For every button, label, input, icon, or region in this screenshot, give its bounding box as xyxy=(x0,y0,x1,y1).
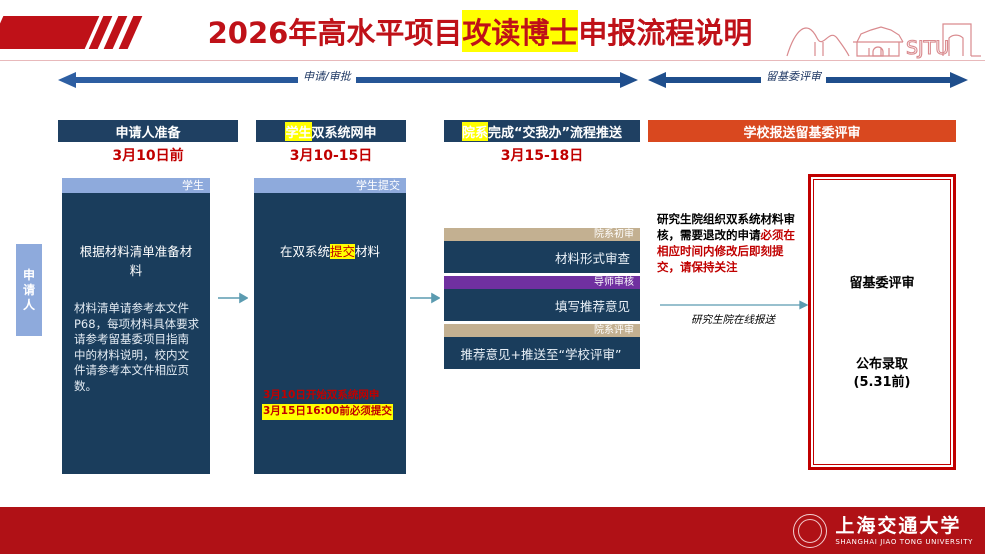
phase-label-apply: 申请/审批 xyxy=(298,68,356,84)
final-admission-result: 公布录取 (5.31前) xyxy=(814,356,950,391)
stage-header-student-online[interactable]: 学生双系统网申 xyxy=(256,120,406,142)
sjtu-wordmark: SJTU xyxy=(906,37,949,59)
panel-deadline-notes: 3月10日开始双系统网申 3月15日16:00前必须提交 xyxy=(262,388,398,420)
stage-header-label: 申请人准备 xyxy=(115,122,180,141)
phase-arrows: 申请/审批 留基委评审 xyxy=(0,68,985,94)
actor-char: 请 xyxy=(23,283,35,298)
final-review-title: 留基委评审 xyxy=(814,272,950,291)
admission-label: 公布录取 xyxy=(814,356,950,374)
sjtu-skyline-art-icon: SJTU xyxy=(785,8,985,60)
panel-heading: 在双系统提交材料 xyxy=(266,241,394,260)
panel-body: 在双系统提交材料 3月10日开始双系统网申 3月15日16:00前必须提交 xyxy=(254,193,406,474)
flow-arrow-icon xyxy=(660,300,808,310)
page-header: 2026年高水平项目攻读博士申报流程说明 SJTU xyxy=(0,0,985,62)
substep-caption: 院系评审 xyxy=(444,324,640,337)
substep-body: 填写推荐意见 xyxy=(444,289,640,321)
actor-tab-applicant: 申 请 人 xyxy=(16,244,42,336)
page-title-post: 申报流程说明 xyxy=(578,10,752,52)
flow-arrow-icon xyxy=(218,292,248,304)
deadline-line-1: 3月10日开始双系统网申 xyxy=(262,388,380,404)
panel-heading-pre: 在双系统 xyxy=(280,244,330,259)
page-title-pre: 2026年高水平项目 xyxy=(208,10,463,52)
phase-label-review: 留基委评审 xyxy=(761,68,826,84)
panel-body: 根据材料清单准备材料 材料清单请参考本文件P68，每项材料具体要求请参考留基委项… xyxy=(62,193,210,474)
substep-caption: 导师审核 xyxy=(444,276,640,289)
substep-body: 推荐意见+推送至“学校评审” xyxy=(444,337,640,369)
header-red-parallelogram xyxy=(0,16,99,49)
stage-header-label: 双系统网申 xyxy=(312,122,377,141)
header-divider xyxy=(0,60,985,61)
actor-char: 人 xyxy=(23,298,35,313)
panel-student-submit: 学生提交 在双系统提交材料 3月10日开始双系统网申 3月15日16:00前必须… xyxy=(254,178,406,474)
sjtu-logo-en: SHANGHAI JIAO TONG UNIVERSITY xyxy=(835,539,973,547)
panel-heading-highlight: 提交 xyxy=(330,244,355,259)
stage-header-applicant-prep[interactable]: 申请人准备 xyxy=(58,120,238,142)
actor-char: 申 xyxy=(23,268,35,283)
substep-department-initial-review[interactable]: 院系初审 材料形式审查 xyxy=(444,228,640,273)
stage-date-department-push: 3月15-18日 xyxy=(444,145,640,165)
stage-header-department-push[interactable]: 院系完成“交我办”流程推送 xyxy=(444,120,640,142)
stage-date-applicant-prep: 3月10日前 xyxy=(58,145,238,165)
graduate-school-note: 研究生院组织双系统材料审核，需要退改的申请必须在相应时间内修改后即刻提交，请保持… xyxy=(657,212,799,275)
panel-caption: 学生提交 xyxy=(254,178,406,193)
deadline-line-2: 3月15日16:00前必须提交 xyxy=(262,404,393,420)
substep-caption: 院系初审 xyxy=(444,228,640,241)
panel-caption: 学生 xyxy=(62,178,210,193)
stage-header-highlight: 院系 xyxy=(462,122,488,141)
sjtu-logo: 上海交通大学 SHANGHAI JIAO TONG UNIVERSITY xyxy=(793,511,973,551)
panel-applicant-prep: 学生 根据材料清单准备材料 材料清单请参考本文件P68，每项材料具体要求请参考留… xyxy=(62,178,210,474)
sjtu-logo-cn: 上海交通大学 xyxy=(835,516,973,537)
sjtu-seal-icon xyxy=(793,514,827,548)
substep-body: 材料形式审查 xyxy=(444,241,640,273)
page-title: 2026年高水平项目攻读博士申报流程说明 xyxy=(160,8,800,54)
stage-header-school-submit[interactable]: 学校报送留基委评审 xyxy=(648,120,956,142)
panel-heading: 根据材料清单准备材料 xyxy=(74,241,198,279)
panel-heading-post: 材料 xyxy=(355,244,380,259)
page-title-highlight: 攻读博士 xyxy=(462,10,578,52)
final-review-box[interactable]: 留基委评审 公布录取 (5.31前) xyxy=(808,174,956,470)
substep-advisor-review[interactable]: 导师审核 填写推荐意见 xyxy=(444,276,640,321)
stage-header-label: 完成“交我办”流程推送 xyxy=(488,122,622,141)
stage-header-highlight: 学生 xyxy=(285,122,311,141)
admission-date: (5.31前) xyxy=(814,374,950,392)
substep-department-evaluation[interactable]: 院系评审 推荐意见+推送至“学校评审” xyxy=(444,324,640,369)
stage-date-student-online: 3月10-15日 xyxy=(256,145,406,165)
graduate-school-submit-label: 研究生院在线报送 xyxy=(668,312,798,327)
panel-note: 材料清单请参考本文件P68，每项材料具体要求请参考留基委项目指南中的材料说明，校… xyxy=(74,301,200,394)
final-review-box-inner: 留基委评审 公布录取 (5.31前) xyxy=(813,179,951,465)
flow-arrow-icon xyxy=(410,292,440,304)
page-footer: 上海交通大学 SHANGHAI JIAO TONG UNIVERSITY xyxy=(0,507,985,554)
stage-header-label: 学校报送留基委评审 xyxy=(743,122,860,141)
